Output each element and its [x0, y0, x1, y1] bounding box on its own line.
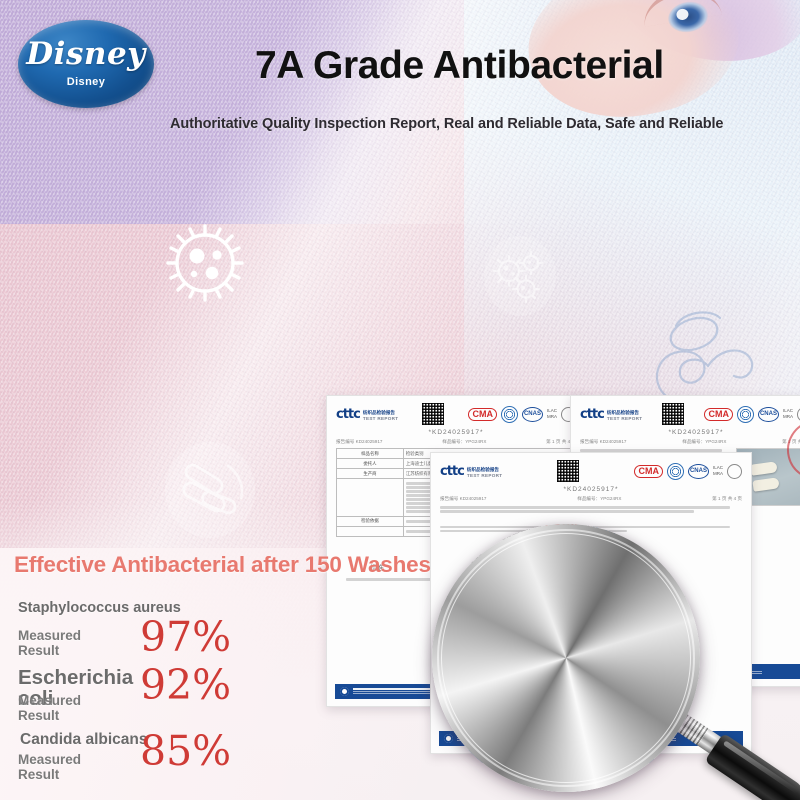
certificate-meta-mid: 样品编号：YPG24RX: [682, 439, 726, 445]
row-key: 生产商: [337, 469, 404, 479]
magnified-center-label-2: Actual Value: [528, 646, 591, 690]
cnas-mark-icon: CNAS: [758, 407, 779, 422]
accreditation-marks: CMA CNAS ILACMRA: [634, 463, 742, 480]
bacilli-rods-icon: [162, 440, 258, 540]
certificate-meta-right: 第 1 页 共 4 页: [712, 496, 742, 502]
cal-seal-icon: [501, 406, 518, 423]
page-title: 7A Grade Antibacterial: [255, 44, 775, 88]
certificate-meta: 报告编号 KD24025917 样品编号：YPG24RX 第 1 页 共 4 页: [431, 496, 751, 505]
ilac-mra-icon: ILACMRA: [547, 408, 557, 420]
certificate-meta-left: 报告编号 KD24025917: [580, 439, 626, 445]
cttc-logo: cttc 纺织品检验报告TEST REPORT: [580, 407, 642, 422]
qr-code-icon: [422, 403, 444, 425]
row-key: 样品名称: [337, 449, 404, 459]
cal-seal-icon: [667, 463, 684, 480]
ilac-mra-icon: ILACMRA: [713, 465, 723, 477]
row-key: 委托人: [337, 459, 404, 469]
inspection-seal-icon: [727, 464, 742, 479]
certificate-code: *KD24025917*: [571, 428, 800, 439]
certificate-meta: 报告编号 KD24025917 样品编号：YPG24RX 第 1 页 共 4 页: [571, 439, 800, 448]
promo-banner: Disney Disney 7A Grade Antibacterial Aut…: [0, 0, 800, 800]
magnified-footer-bar: [432, 750, 654, 763]
row-key: [337, 526, 404, 536]
qr-code-icon: [662, 403, 684, 425]
certificate-meta-left: 报告编号 KD24025917: [336, 439, 382, 445]
magnified-standard-row-3: 0944.3-2008 标准（较）值 ≥ 70: [438, 684, 491, 716]
measured-result-label-1: Measured Result: [18, 693, 81, 723]
magnified-standard-row-1: 944.3-2008 标准（较）值 ≥ 70: [438, 602, 491, 634]
cnas-mark-icon: CNAS: [522, 407, 543, 422]
accreditation-marks: CMA CNAS ILACMRA: [468, 406, 576, 423]
magnified-page: CTTC CTTC CTTC CTTC CTTC CTTC CTTC CMA 2…: [432, 524, 700, 792]
magnified-cal-seal-icon: [588, 524, 617, 541]
magnified-qr-icon: [476, 524, 530, 540]
certificate-meta: 报告编号 KD24025917 样品编号：YPG24RX 第 1 页 共 4 页: [327, 439, 585, 448]
sock-sample-a: [750, 461, 777, 476]
cal-seal-icon: [737, 406, 754, 423]
magnified-judgment-3: Single Item Judgment: Compliant: [590, 682, 671, 700]
cttc-mark: cttc: [580, 407, 604, 422]
magnified-judgment-2: Single Item Judgment: Compliant: [592, 642, 673, 660]
expand-row-button[interactable]: +: [484, 726, 510, 740]
cttc-mark: cttc: [440, 464, 464, 479]
cttc-lab-name: 纺织品检验报告TEST REPORT: [607, 410, 642, 421]
disney-logo: Disney Disney: [18, 20, 154, 108]
certificate-code: *KD24025917*: [431, 485, 751, 496]
certificate-meta-mid: 样品编号：YPG24RX: [442, 439, 486, 445]
cttc-lab-name: 纺织品检验报告TEST REPORT: [363, 410, 398, 421]
measured-result-label-2: Measured Result: [18, 752, 81, 782]
certificate-meta-left: 报告编号 KD24025917: [440, 496, 486, 502]
certificate-header: cttc 纺织品检验报告TEST REPORT CMA CNAS ILACMRA: [431, 453, 751, 485]
organism-name-2: Candida albicans: [20, 731, 147, 749]
magnified-report-code: *KD24025917*: [458, 552, 564, 566]
magnified-cma-mark-icon: CMA 2023011142346: [544, 524, 592, 538]
virus-germ-icon: [157, 215, 253, 311]
magnified-cnas-mark-icon: CN: [624, 524, 660, 539]
cttc-lab-name: 纺织品检验报告TEST REPORT: [467, 467, 502, 478]
certificate-meta-mid: 样品编号：YPG24RX: [577, 496, 621, 502]
cma-mark-icon: CMA: [704, 408, 733, 421]
magnified-judgment-1: Single Item Judgment: Compliant: [590, 604, 671, 622]
magnified-anticounterfeit: Anti-counterfeiting Code: 7P10RX: [520, 570, 592, 590]
row-key: 检验依据: [337, 516, 404, 526]
measured-value-0: 97%: [140, 617, 231, 658]
magnifying-glass: CTTC CTTC CTTC CTTC CTTC CTTC CTTC CMA 2…: [432, 524, 700, 792]
cma-mark-icon: CMA: [634, 465, 663, 478]
measured-result-label-0: Measured Result: [18, 628, 81, 658]
certificate-header: cttc 纺织品检验报告TEST REPORT CMA CNAS ILACMRA: [327, 396, 585, 428]
page-subtitle: Authoritative Quality Inspection Report,…: [170, 116, 790, 132]
accreditation-marks: CMA CNAS ILACMRA: [704, 406, 800, 423]
disney-logo-script: Disney: [18, 36, 154, 72]
cttc-logo: cttc 纺织品检验报告TEST REPORT: [440, 464, 502, 479]
magnifier-lens: CTTC CTTC CTTC CTTC CTTC CTTC CTTC CMA 2…: [432, 524, 700, 792]
sock-sample-b: [752, 477, 779, 492]
cttc-logo: cttc 纺织品检验报告TEST REPORT: [336, 407, 398, 422]
row-key: [337, 479, 404, 516]
disney-logo-subtext: Disney: [18, 76, 154, 88]
qr-code-icon: [557, 460, 579, 482]
certificate-header: cttc 纺织品检验报告TEST REPORT CMA CNAS ILACMRA: [571, 396, 800, 428]
magnified-continued: (Continued): [476, 576, 521, 585]
magnified-document: CTTC CTTC CTTC CTTC CTTC CTTC CTTC CMA 2…: [432, 524, 700, 792]
cttc-mark: cttc: [336, 407, 360, 422]
certificate-code: *KD24025917*: [327, 428, 585, 439]
bacteria-cluster-icon: [482, 235, 558, 317]
measured-value-1: 92%: [140, 665, 231, 706]
measured-value-2: 85%: [140, 731, 231, 772]
stats-heading: Effective Antibacterial after 150 Washes: [14, 552, 431, 578]
magnified-page-label: Page 2 of 4: [620, 570, 668, 580]
cnas-mark-icon: CNAS: [688, 464, 709, 479]
footer-org-logo-icon: [340, 687, 349, 696]
magnified-standard-row-2: GB/T 20944.3-2008 标准（较）值 ≥ 85: [434, 642, 508, 674]
cma-mark-icon: CMA: [468, 408, 497, 421]
ilac-mra-icon: ILACMRA: [783, 408, 793, 420]
